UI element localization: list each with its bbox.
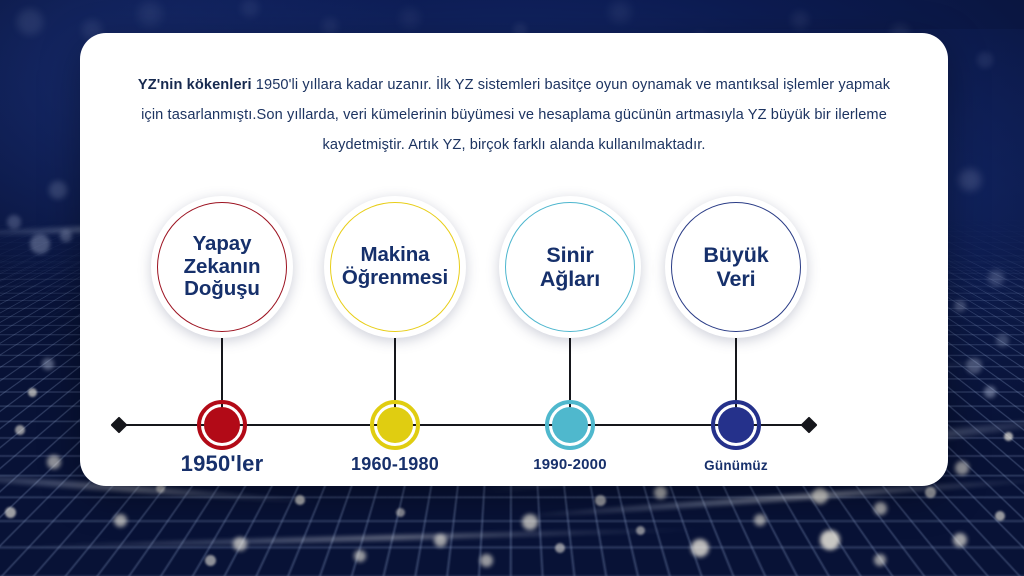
content-card: YZ'nin kökenleri 1950'li yıllara kadar u… [80, 33, 948, 486]
bokeh-particle [820, 530, 840, 550]
bokeh-particle [925, 487, 936, 498]
bokeh-particle [953, 533, 967, 547]
marker-dot-icon [718, 407, 754, 443]
axis-right-diamond-icon [801, 417, 818, 434]
timeline-marker-2[interactable] [370, 400, 420, 450]
bokeh-particle [47, 455, 61, 469]
timeline-node-label-4: Büyük Veri [695, 243, 776, 291]
intro-bold-lead: YZ'nin kökenleri [138, 77, 252, 93]
bokeh-particle [400, 8, 420, 28]
bokeh-particle [966, 358, 982, 374]
timeline-marker-4[interactable] [711, 400, 761, 450]
bokeh-particle [954, 300, 966, 312]
intro-paragraph: YZ'nin kökenleri 1950'li yıllara kadar u… [128, 71, 900, 161]
bokeh-particle [17, 9, 43, 35]
bokeh-particle [480, 554, 493, 567]
bokeh-particle [354, 550, 366, 562]
bokeh-particle [114, 514, 127, 527]
bokeh-particle [396, 508, 405, 517]
marker-dot-icon [204, 407, 240, 443]
bokeh-particle [522, 514, 538, 530]
timeline-marker-3[interactable] [545, 400, 595, 450]
bokeh-particle [874, 502, 887, 515]
bokeh-particle [434, 534, 447, 547]
bokeh-particle [30, 234, 50, 254]
bokeh-particle [7, 215, 21, 229]
timeline-period-label-4: Günümüz [670, 458, 802, 473]
bokeh-particle [295, 495, 305, 505]
bokeh-particle [205, 555, 216, 566]
bokeh-particle [984, 386, 996, 398]
timeline-period-label-3: 1990-2000 [500, 456, 640, 473]
bokeh-particle [5, 507, 16, 518]
timeline-node-circle-4[interactable]: Büyük Veri [665, 196, 807, 338]
bokeh-particle [754, 514, 766, 526]
bokeh-particle [15, 425, 25, 435]
bokeh-particle [959, 169, 981, 191]
timeline-node-circle-1[interactable]: Yapay Zekanın Doğuşu [151, 196, 293, 338]
bokeh-particle [874, 554, 886, 566]
bokeh-particle [138, 2, 162, 26]
bokeh-particle [812, 488, 828, 504]
bokeh-particle [995, 511, 1005, 521]
timeline-node-circle-2[interactable]: Makina Öğrenmesi [324, 196, 466, 338]
bokeh-particle [955, 461, 969, 475]
bokeh-particle [28, 388, 37, 397]
bokeh-particle [60, 230, 72, 242]
bokeh-particle [654, 486, 667, 499]
bokeh-particle [595, 495, 606, 506]
bokeh-particle [636, 526, 645, 535]
intro-body-text: 1950'li yıllara kadar uzanır. İlk YZ sis… [141, 77, 890, 153]
bokeh-particle [1004, 432, 1013, 441]
timeline-period-label-2: 1960-1980 [320, 454, 470, 475]
bokeh-particle [977, 52, 993, 68]
bokeh-particle [996, 334, 1009, 347]
bokeh-particle [49, 181, 67, 199]
bokeh-particle [555, 543, 565, 553]
bokeh-particle [791, 11, 809, 29]
marker-dot-icon [552, 407, 588, 443]
bokeh-particle [322, 18, 338, 34]
timeline-marker-1[interactable] [197, 400, 247, 450]
timeline-node-label-3: Sinir Ağları [532, 243, 608, 291]
timeline-node-label-1: Yapay Zekanın Doğuşu [176, 233, 269, 302]
timeline-period-label-1: 1950'ler [142, 451, 302, 477]
timeline-node-label-2: Makina Öğrenmesi [334, 244, 456, 290]
bokeh-particle [233, 537, 247, 551]
axis-left-diamond-icon [111, 417, 128, 434]
marker-dot-icon [377, 407, 413, 443]
bokeh-particle [691, 539, 709, 557]
bokeh-particle [42, 358, 54, 370]
bokeh-particle [988, 270, 1004, 286]
timeline-node-circle-3[interactable]: Sinir Ağları [499, 196, 641, 338]
bokeh-particle [609, 1, 631, 23]
